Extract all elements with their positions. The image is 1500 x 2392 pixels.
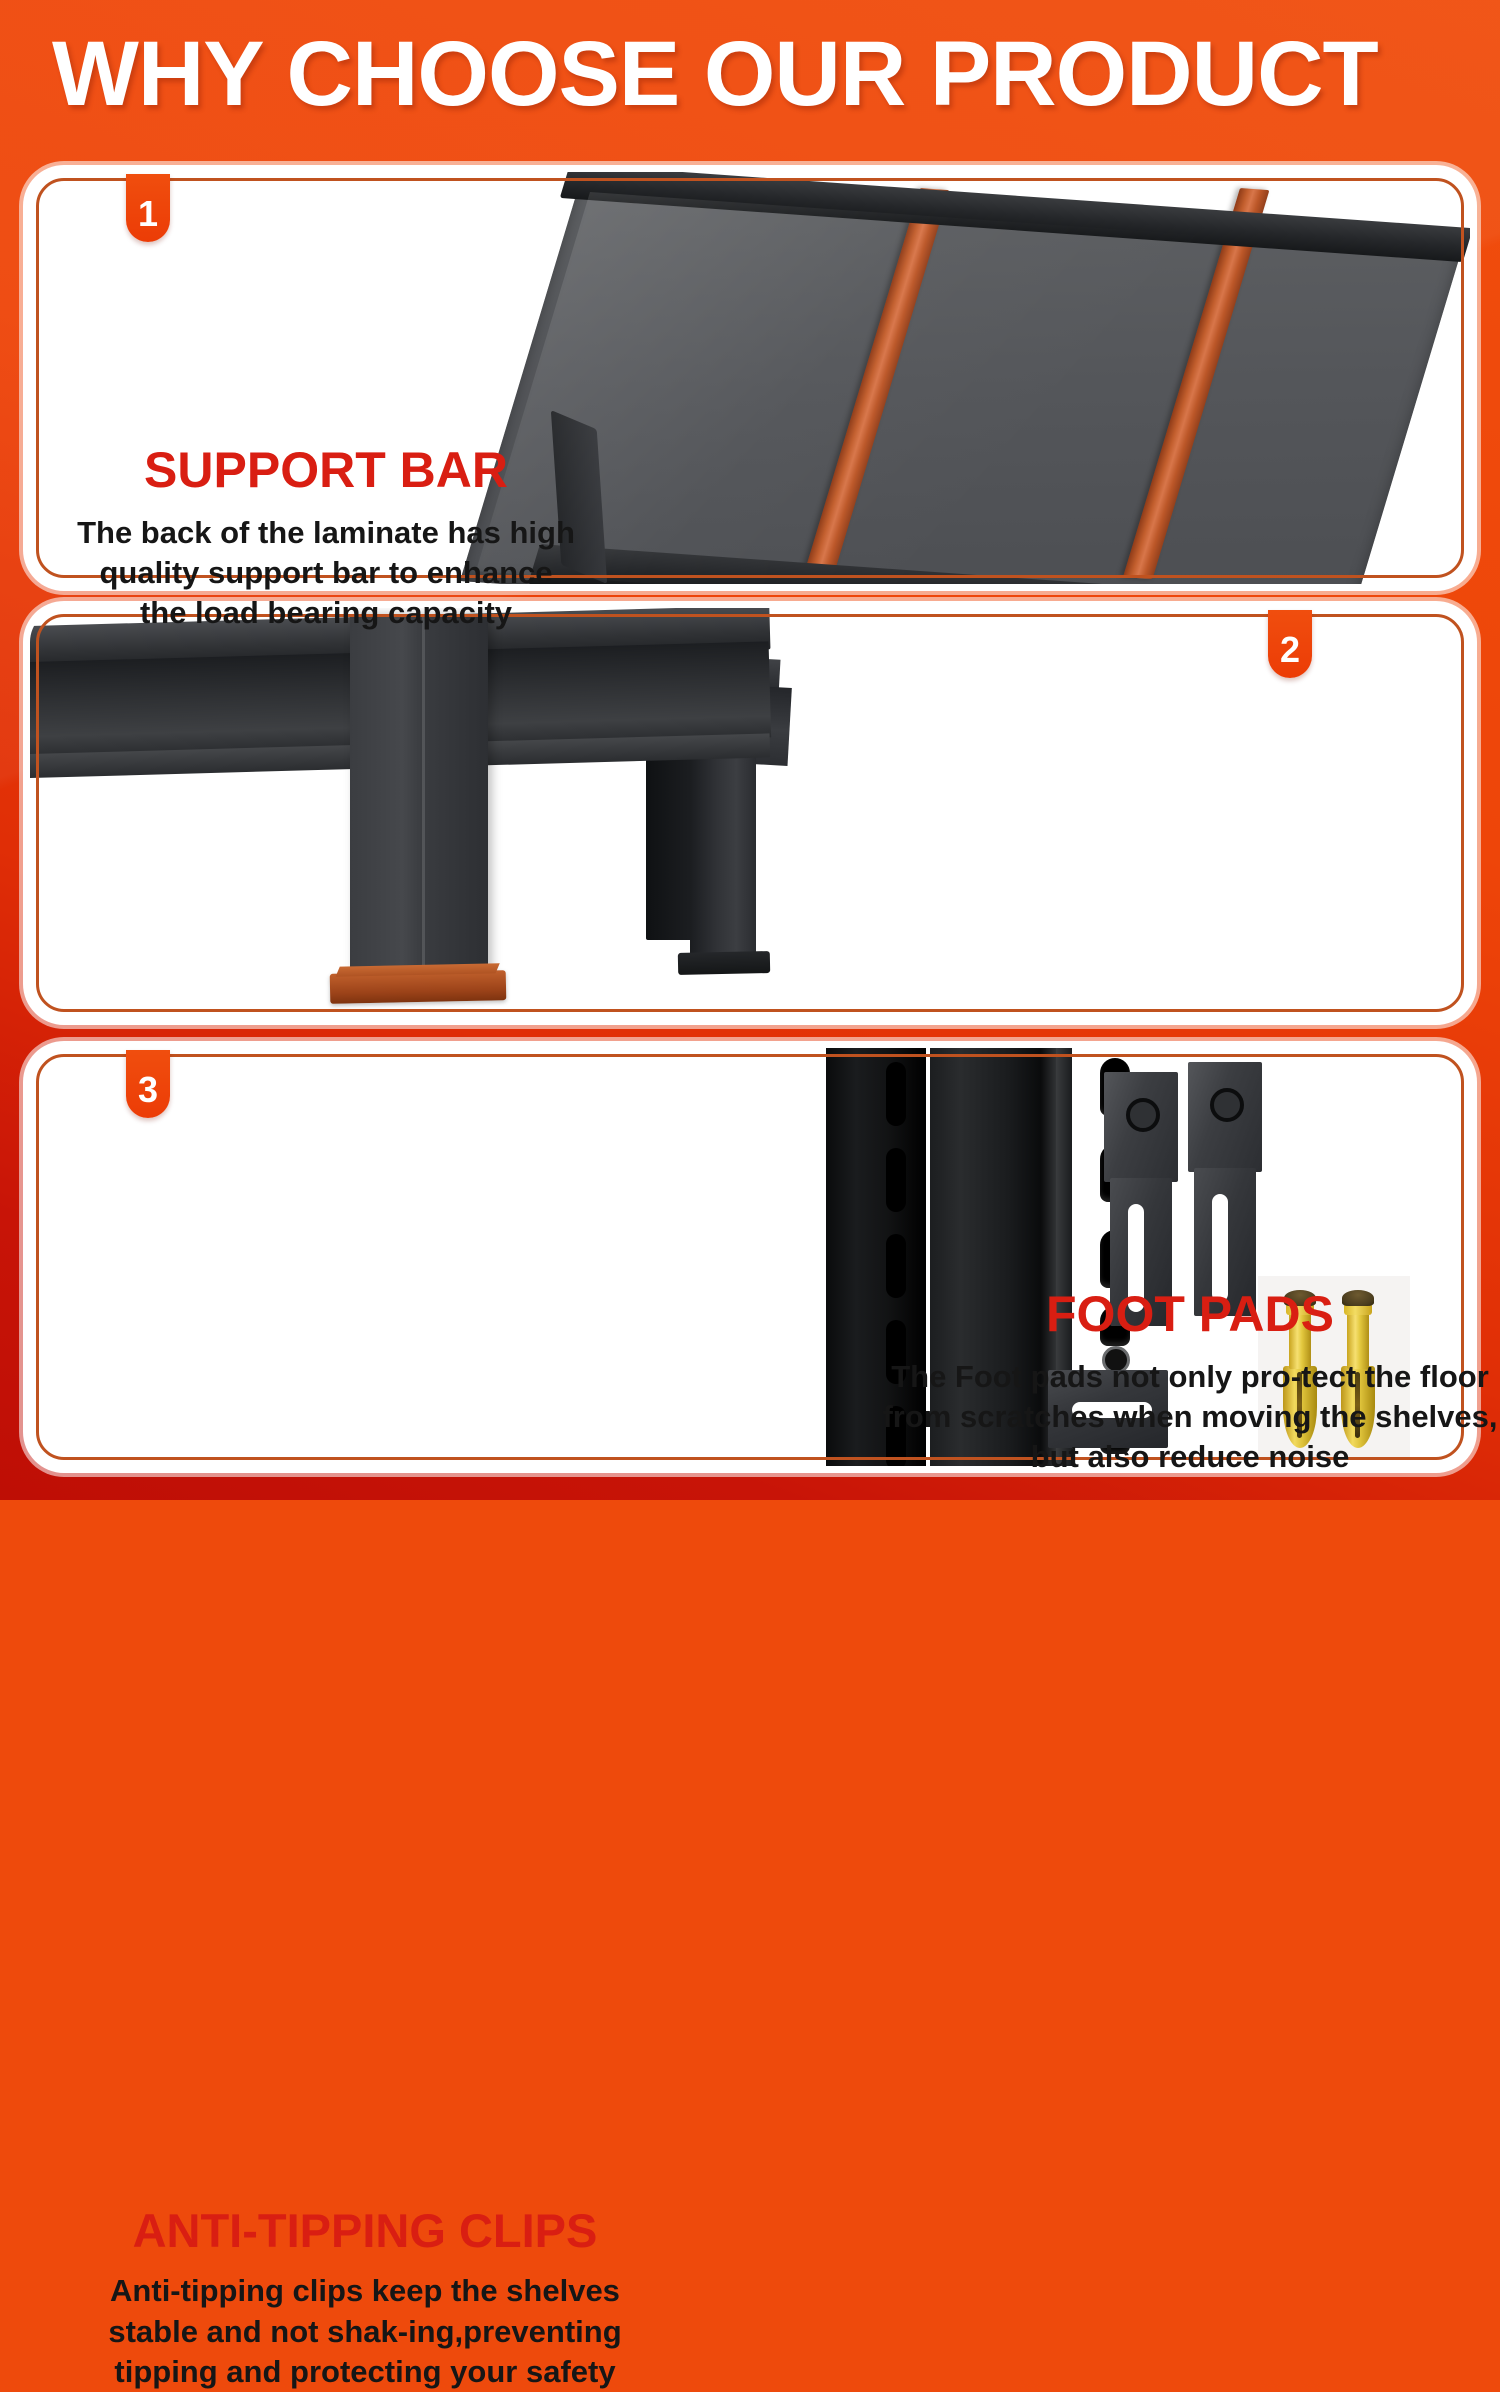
infographic-stage: WHY CHOOSE OUR PRODUCT SUPPORT BAR The b… — [0, 0, 1500, 1500]
post-slot-icon — [886, 1062, 906, 1126]
feature-1-text: SUPPORT BAR The back of the laminate has… — [76, 444, 576, 633]
clip-screw-hole-icon — [1210, 1088, 1244, 1122]
shelf-laminate-graphic — [550, 172, 1470, 584]
foot-pads-illustration — [30, 608, 820, 1018]
feature-3-body: Anti-tipping clips keep the shelves stab… — [80, 2271, 650, 2392]
leg-highlight — [422, 614, 425, 980]
feature-1-body: The back of the laminate has high qualit… — [76, 513, 576, 634]
feature-3-text: ANTI-TIPPING CLIPS Anti-tipping clips ke… — [80, 2206, 650, 2392]
feature-2-body: The Foot pads not only pro-tect the floo… — [870, 1357, 1500, 1478]
foot-pad-top-face — [336, 963, 500, 976]
clip-upper-plate — [1104, 1072, 1178, 1182]
feature-card-foot-pads: FOOT PADS The Foot pads not only pro-tec… — [30, 608, 1470, 1018]
feature-3-heading: ANTI-TIPPING CLIPS — [80, 2206, 650, 2255]
feature-card-support-bar: SUPPORT BAR The back of the laminate has… — [30, 172, 1470, 584]
foot-pad-rear — [678, 951, 770, 975]
feature-2-heading: FOOT PADS — [870, 1288, 1500, 1341]
feature-1-heading: SUPPORT BAR — [76, 444, 576, 497]
post-slot-icon — [886, 1148, 906, 1212]
feature-3-number-badge: 3 — [126, 1050, 170, 1118]
feature-2-text: FOOT PADS The Foot pads not only pro-tec… — [870, 1288, 1500, 1477]
shelf-leg-front — [350, 614, 488, 980]
feature-2-number-badge: 2 — [1268, 610, 1312, 678]
foot-pad-front — [330, 970, 507, 1004]
clip-screw-hole-icon — [1126, 1098, 1160, 1132]
card-2-clip-region — [30, 608, 1470, 1018]
anti-tipping-clip-right — [1188, 1062, 1268, 1322]
clip-upper-plate — [1188, 1062, 1262, 1172]
support-bar-illustration — [550, 172, 1470, 584]
page-title: WHY CHOOSE OUR PRODUCT — [52, 28, 1452, 120]
feature-1-number-badge: 1 — [126, 174, 170, 242]
